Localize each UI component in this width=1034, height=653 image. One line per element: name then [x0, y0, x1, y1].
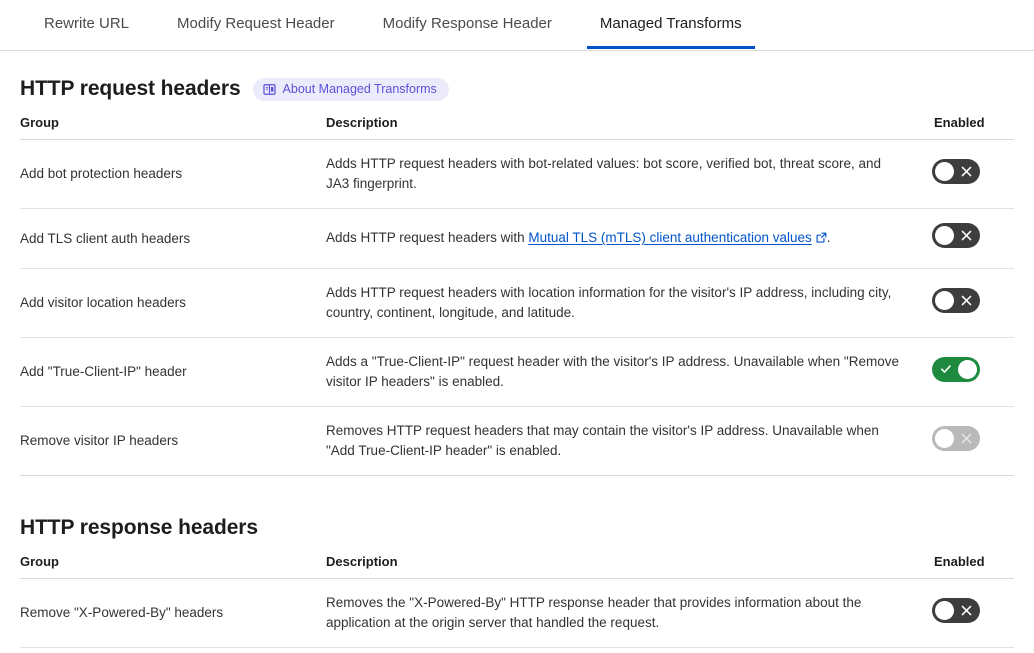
- row-description: Adds a "True-Client-IP" request header w…: [326, 338, 932, 407]
- row-group-label: Remove visitor IP headers: [20, 407, 326, 476]
- close-icon: [961, 288, 972, 313]
- toggle-knob: [935, 601, 954, 620]
- request-section-header: HTTP request headers About Managed Trans…: [20, 51, 1014, 109]
- row-group-label: Add TLS client auth headers: [20, 209, 326, 269]
- response-headers-table: Group Description Enabled Remove "X-Powe…: [20, 548, 1014, 653]
- tab-modify-response-header[interactable]: Modify Response Header: [359, 0, 576, 48]
- row-description: Adds HTTP request headers with Mutual TL…: [326, 209, 932, 269]
- tab-bar: Rewrite URL Modify Request Header Modify…: [0, 0, 1034, 51]
- toggle-add-true-client-ip-header[interactable]: [932, 357, 980, 382]
- section-spacer: [20, 476, 1014, 490]
- row-description: Adds HTTP request headers with location …: [326, 269, 932, 338]
- close-icon: [961, 598, 972, 623]
- close-icon: [961, 223, 972, 248]
- table-header-row: Group Description Enabled: [20, 548, 1014, 579]
- close-icon: [961, 159, 972, 184]
- row-enabled-cell: [932, 579, 1014, 648]
- about-managed-transforms-label: About Managed Transforms: [283, 82, 437, 97]
- link-label: Mutual TLS (mTLS) client authentication …: [528, 230, 811, 245]
- page-title-response: HTTP response headers: [20, 516, 258, 540]
- row-description: Removes the "X-Powered-By" HTTP response…: [326, 579, 932, 648]
- row-group-label: Add visitor location headers: [20, 269, 326, 338]
- row-group-label: Remove "X-Powered-By" headers: [20, 579, 326, 648]
- page-title-request: HTTP request headers: [20, 77, 241, 101]
- column-header-group: Group: [20, 109, 326, 140]
- toggle-remove-visitor-ip-headers: [932, 426, 980, 451]
- tab-managed-transforms[interactable]: Managed Transforms: [576, 0, 766, 48]
- row-group-label: Add security headers: [20, 648, 326, 653]
- toggle-add-tls-client-auth-headers[interactable]: [932, 223, 980, 248]
- row-enabled-cell: [932, 140, 1014, 209]
- column-header-description: Description: [326, 548, 932, 579]
- check-icon: [940, 357, 952, 382]
- request-headers-table: Group Description Enabled Add bot protec…: [20, 109, 1014, 476]
- toggle-add-visitor-location-headers[interactable]: [932, 288, 980, 313]
- row-enabled-cell: [932, 269, 1014, 338]
- http-request-headers-section: HTTP request headers About Managed Trans…: [0, 51, 1034, 653]
- description-prefix: Adds HTTP request headers with: [326, 230, 528, 245]
- external-link-icon: [816, 229, 827, 249]
- toggle-knob: [935, 226, 954, 245]
- toggle-add-bot-protection-headers[interactable]: [932, 159, 980, 184]
- toggle-remove-x-powered-by-headers[interactable]: [932, 598, 980, 623]
- table-row: Remove visitor IP headers Removes HTTP r…: [20, 407, 1014, 476]
- row-enabled-cell: [932, 407, 1014, 476]
- row-enabled-cell: [932, 338, 1014, 407]
- row-enabled-cell: [932, 209, 1014, 269]
- row-description: Adds several security-related HTTP respo…: [326, 648, 932, 653]
- tab-rewrite-url[interactable]: Rewrite URL: [20, 0, 153, 48]
- book-icon: [263, 83, 276, 96]
- table-row: Add bot protection headers Adds HTTP req…: [20, 140, 1014, 209]
- description-suffix: .: [827, 230, 831, 245]
- table-row: Add "True-Client-IP" header Adds a "True…: [20, 338, 1014, 407]
- column-header-group: Group: [20, 548, 326, 579]
- row-group-label: Add "True-Client-IP" header: [20, 338, 326, 407]
- column-header-description: Description: [326, 109, 932, 140]
- about-managed-transforms-badge[interactable]: About Managed Transforms: [253, 78, 449, 101]
- row-group-label: Add bot protection headers: [20, 140, 326, 209]
- table-header-row: Group Description Enabled: [20, 109, 1014, 140]
- toggle-knob: [935, 162, 954, 181]
- toggle-knob: [958, 360, 977, 379]
- column-header-enabled: Enabled: [932, 548, 1014, 579]
- table-row: Add visitor location headers Adds HTTP r…: [20, 269, 1014, 338]
- toggle-knob: [935, 429, 954, 448]
- close-icon: [961, 426, 972, 451]
- row-description: Removes HTTP request headers that may co…: [326, 407, 932, 476]
- response-section-header: HTTP response headers: [20, 490, 1014, 548]
- column-header-enabled: Enabled: [932, 109, 1014, 140]
- table-row: Add TLS client auth headers Adds HTTP re…: [20, 209, 1014, 269]
- mtls-client-auth-link[interactable]: Mutual TLS (mTLS) client authentication …: [528, 230, 826, 245]
- row-description: Adds HTTP request headers with bot-relat…: [326, 140, 932, 209]
- table-row: Add security headers Adds several securi…: [20, 648, 1014, 653]
- row-enabled-cell: [932, 648, 1014, 653]
- toggle-knob: [935, 291, 954, 310]
- tab-modify-request-header[interactable]: Modify Request Header: [153, 0, 359, 48]
- table-row: Remove "X-Powered-By" headers Removes th…: [20, 579, 1014, 648]
